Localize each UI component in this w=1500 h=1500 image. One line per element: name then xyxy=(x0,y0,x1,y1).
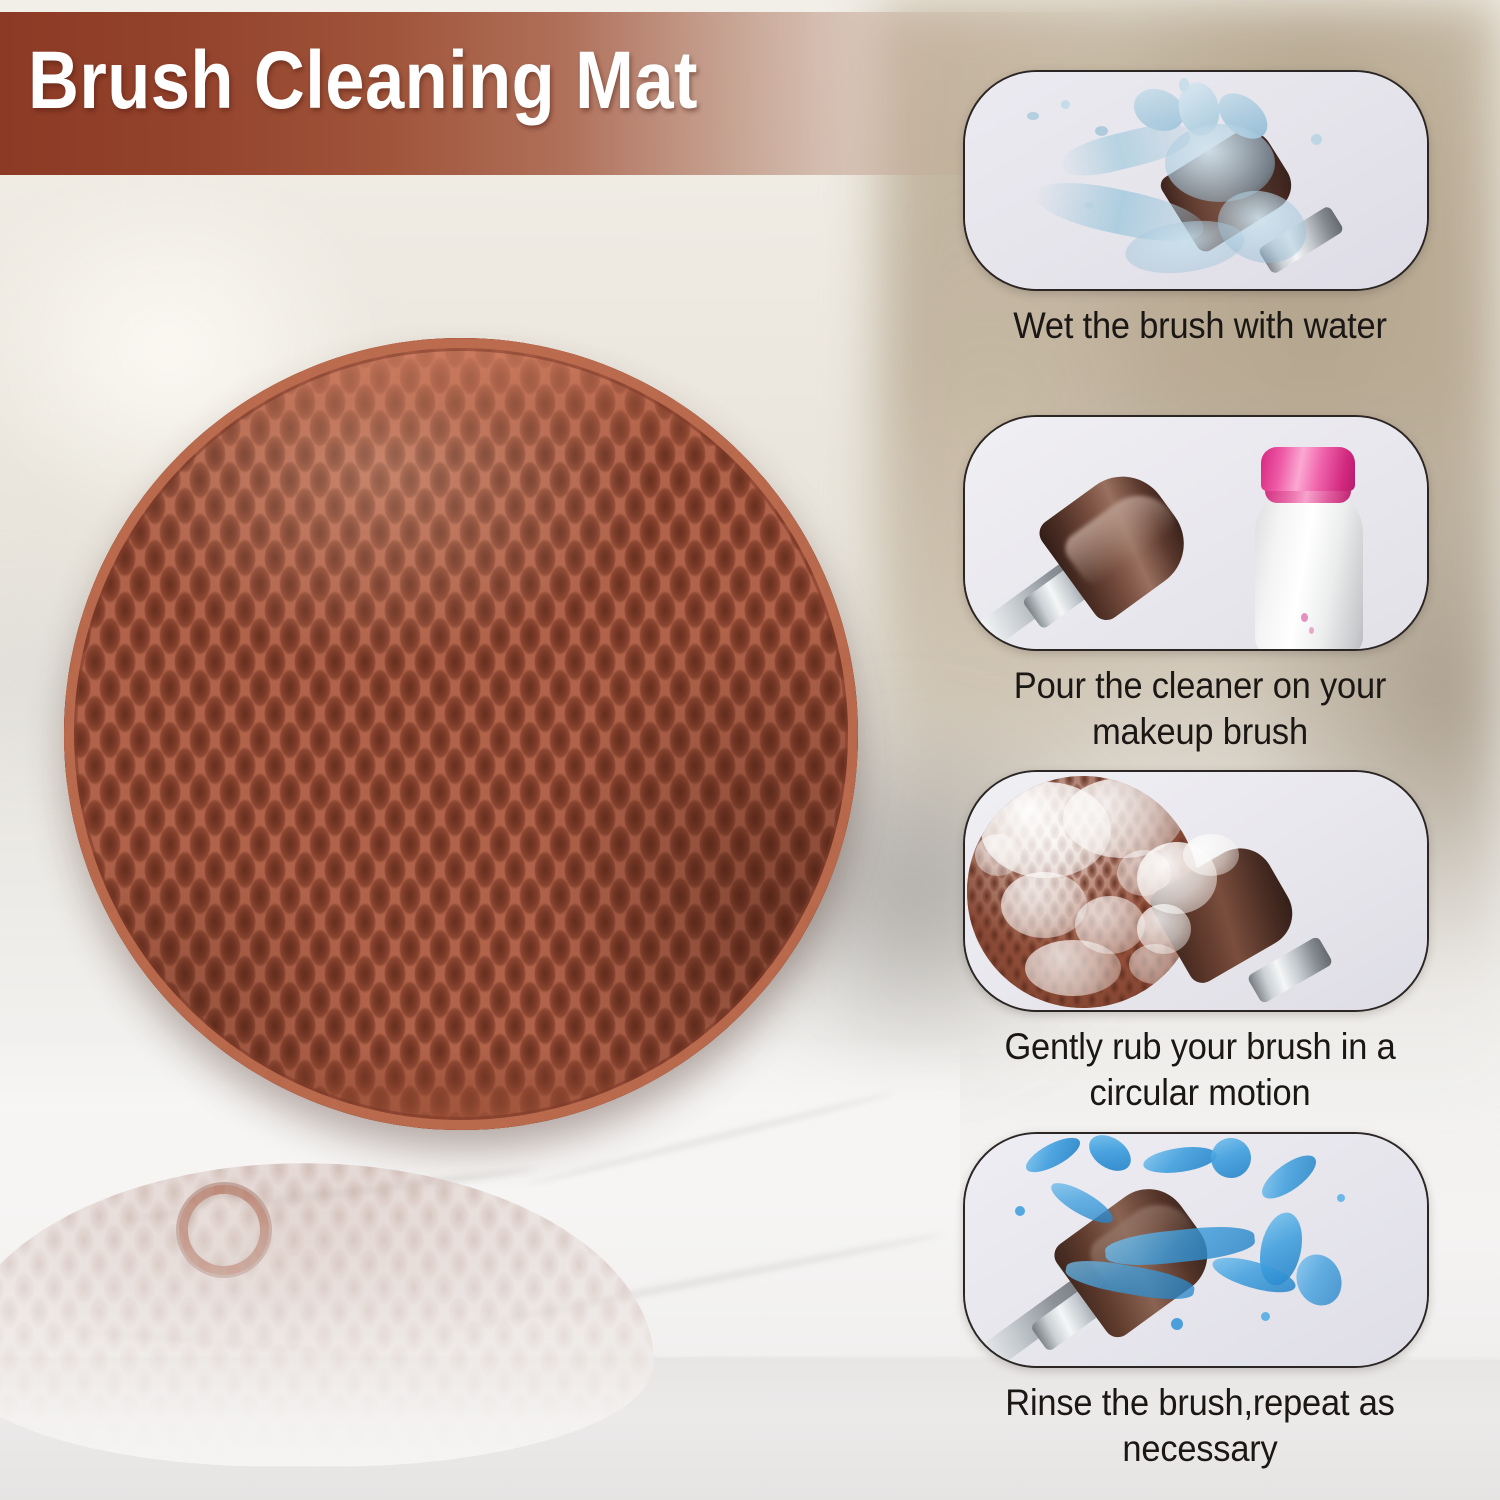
step-4-image xyxy=(963,1132,1429,1368)
infographic-canvas: Brush Cleaning Mat xyxy=(0,0,1500,1500)
step-2: Pour the cleaner on your makeup brush xyxy=(930,415,1470,755)
steps-column: Wet the brush with water xyxy=(930,70,1470,1490)
rinse-brush-scene xyxy=(965,1134,1427,1366)
step-4-caption: Rinse the brush,repeat as necessary xyxy=(949,1380,1451,1472)
mat-disc xyxy=(64,338,858,1130)
step-3-image xyxy=(963,770,1429,1012)
page-title: Brush Cleaning Mat xyxy=(28,38,698,124)
product-mat xyxy=(64,338,858,1134)
step-3: Gently rub your brush in a circular moti… xyxy=(930,770,1470,1116)
mat-reflection xyxy=(0,1163,654,1467)
step-3-caption: Gently rub your brush in a circular moti… xyxy=(949,1024,1451,1116)
step-1-caption: Wet the brush with water xyxy=(949,303,1451,349)
pour-cleaner-scene xyxy=(965,417,1427,649)
step-1-image xyxy=(963,70,1429,291)
step-2-caption: Pour the cleaner on your makeup brush xyxy=(949,663,1451,755)
step-4: Rinse the brush,repeat as necessary xyxy=(930,1132,1470,1472)
honeycomb-pattern xyxy=(64,338,858,1130)
step-1: Wet the brush with water xyxy=(930,70,1470,349)
step-2-image xyxy=(963,415,1429,651)
wet-brush-scene xyxy=(965,72,1427,289)
reflection-fade xyxy=(0,1163,654,1467)
rub-brush-scene xyxy=(965,772,1427,1010)
